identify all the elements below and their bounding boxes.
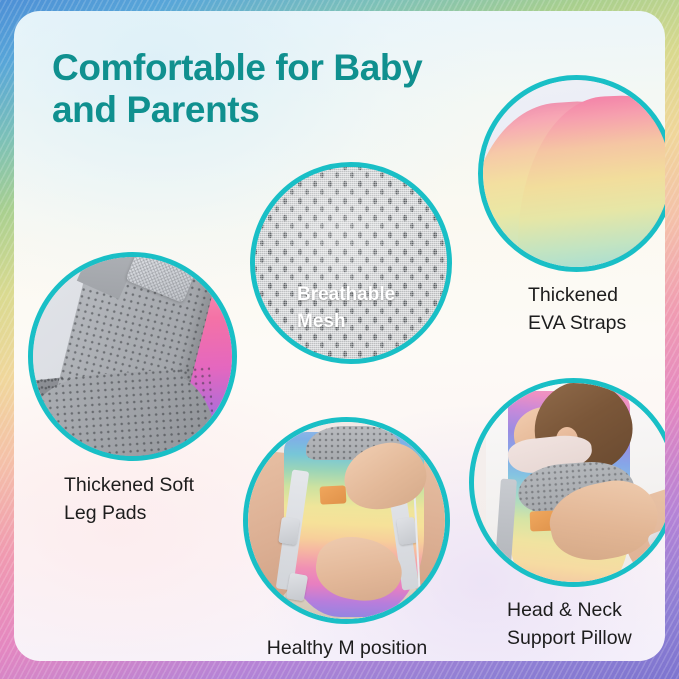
breathable-mesh-overlay-label: Breathable Mesh bbox=[297, 281, 447, 336]
page-title: Comfortable for Baby and Parents bbox=[52, 47, 522, 131]
breathable-mesh-photo-circle: Breathable Mesh bbox=[250, 162, 452, 364]
m-position-caption: Healthy M position bbox=[217, 635, 477, 661]
eva-straps-caption: Thickened EVA Straps bbox=[528, 282, 665, 337]
head-neck-caption: Head & Neck Support Pillow bbox=[507, 597, 665, 652]
content-card: Comfortable for Baby and Parents Thicken… bbox=[14, 11, 665, 661]
leg-pads-image bbox=[33, 257, 232, 456]
m-position-photo-circle bbox=[243, 417, 450, 624]
eva-straps-image bbox=[483, 80, 665, 267]
m-position-image bbox=[248, 422, 445, 619]
head-neck-image bbox=[474, 383, 665, 582]
leg-pads-photo-circle bbox=[28, 252, 237, 461]
head-neck-photo-circle bbox=[469, 378, 665, 587]
infographic-canvas: Comfortable for Baby and Parents Thicken… bbox=[0, 0, 679, 679]
eva-straps-photo-circle bbox=[478, 75, 665, 272]
